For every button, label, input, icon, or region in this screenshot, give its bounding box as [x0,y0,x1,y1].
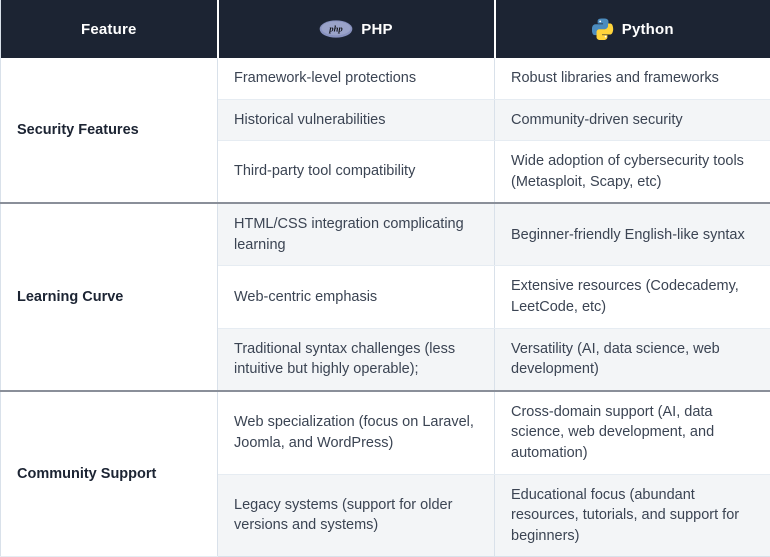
feature-label-text: Security Features [17,121,217,140]
table-row: Community Support Web specialization (fo… [1,391,770,474]
cell-python: Community-driven security [495,99,770,141]
cell-python: Educational focus (abundant resources, t… [495,474,770,557]
header-row: Feature php PHP [1,0,770,58]
svg-text:php: php [329,24,344,34]
python-logo-icon [592,18,614,40]
cell-php: HTML/CSS integration complicating learni… [218,203,495,266]
feature-label-cell-learning: Learning Curve [1,203,218,390]
header-label-python: Python [622,22,674,37]
cell-php: Third-party tool compatibility [218,141,495,204]
cell-php: Web-centric emphasis [218,266,495,328]
feature-label-cell-community: Community Support [1,391,218,557]
cell-python: Robust libraries and frameworks [495,58,770,99]
cell-php: Historical vulnerabilities [218,99,495,141]
header-cell-feature: Feature [1,0,218,58]
cell-php: Traditional syntax challenges (less intu… [218,328,495,391]
cell-python: Beginner-friendly English-like syntax [495,203,770,266]
table-row: Security Features Framework-level protec… [1,58,770,99]
cell-python: Cross-domain support (AI, data science, … [495,391,770,474]
cell-python: Extensive resources (Codecademy, LeetCod… [495,266,770,328]
header-label-feature: Feature [81,22,137,37]
feature-label-cell-security: Security Features [1,58,218,203]
header-label-php: PHP [361,22,392,37]
header-cell-python: Python [495,0,770,58]
cell-php: Web specialization (focus on Laravel, Jo… [218,391,495,474]
feature-label-text: Learning Curve [17,288,217,307]
cell-python: Wide adoption of cybersecurity tools (Me… [495,141,770,204]
cell-php: Framework-level protections [218,58,495,99]
php-logo-icon: php [319,20,353,38]
table-row: Learning Curve HTML/CSS integration comp… [1,203,770,266]
header-cell-php: php PHP [218,0,495,58]
cell-php: Legacy systems (support for older versio… [218,474,495,557]
php-python-comparison-table: Feature php PHP [0,0,770,557]
cell-python: Versatility (AI, data science, web devel… [495,328,770,391]
feature-label-text: Community Support [17,465,217,484]
table-header: Feature php PHP [1,0,770,58]
table-body: Security Features Framework-level protec… [1,58,770,557]
